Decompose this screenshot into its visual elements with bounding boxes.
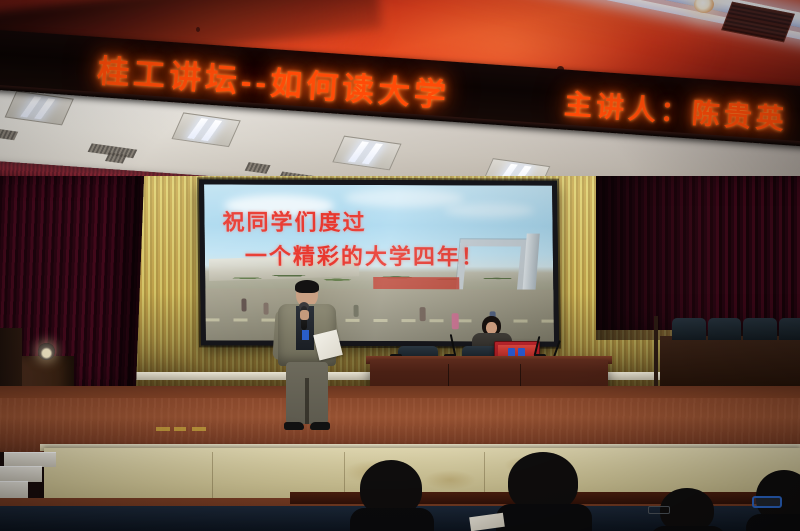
speaker-leg-gap — [305, 378, 309, 424]
campus-person-6 — [354, 305, 359, 317]
slide-text-line-1: 祝同学们度过 — [222, 204, 559, 237]
audience-shoulders-3 — [650, 526, 726, 531]
step-2 — [0, 466, 42, 482]
slide-text-line-2: 一个精彩的大学四年！ — [245, 239, 559, 272]
stage-pole — [654, 316, 658, 388]
speaker-hand — [300, 310, 309, 320]
auditorium-scene: 桂工讲坛--如何读大学 主讲人：陈贵英 — [0, 0, 800, 531]
campus-person-3 — [420, 307, 426, 321]
step-1 — [4, 452, 56, 467]
led-banner-speaker: 主讲人：陈贵英 — [563, 83, 789, 139]
speaker-shoe-right — [310, 422, 330, 430]
campus-person-4 — [452, 313, 459, 329]
standing-speaker — [272, 282, 344, 440]
air-vent-icon — [721, 2, 795, 43]
audience-head-2 — [508, 452, 578, 512]
stage-tape-mark-3 — [192, 427, 206, 431]
seat-2 — [708, 318, 742, 340]
eyeglasses-icon — [752, 496, 782, 508]
speaker-badge — [302, 330, 309, 340]
stage-tape-mark-2 — [174, 427, 186, 431]
stage-panel-seam-1 — [212, 452, 213, 504]
seat-4 — [779, 318, 800, 340]
step-3 — [0, 481, 28, 498]
eyeglasses-icon-2 — [648, 506, 670, 514]
speaker-papers — [313, 329, 343, 360]
seat-1 — [672, 318, 706, 340]
campus-person-2 — [263, 303, 268, 315]
audience-shoulders-2 — [496, 504, 592, 531]
audience-shoulders-1 — [350, 508, 434, 531]
audience-shoulders-4 — [746, 514, 800, 531]
speaker-hair — [295, 280, 319, 293]
speaker-shoe-left — [284, 422, 304, 430]
right-seat-row — [672, 318, 800, 340]
stage-tape-mark-1 — [156, 427, 170, 431]
ceiling-fixture-dot — [196, 27, 200, 32]
stage-lamp-icon — [38, 343, 55, 360]
panel-stain-2 — [424, 470, 476, 490]
seat-3 — [743, 318, 777, 340]
right-seat-base — [660, 336, 800, 386]
campus-person-1 — [241, 299, 246, 312]
